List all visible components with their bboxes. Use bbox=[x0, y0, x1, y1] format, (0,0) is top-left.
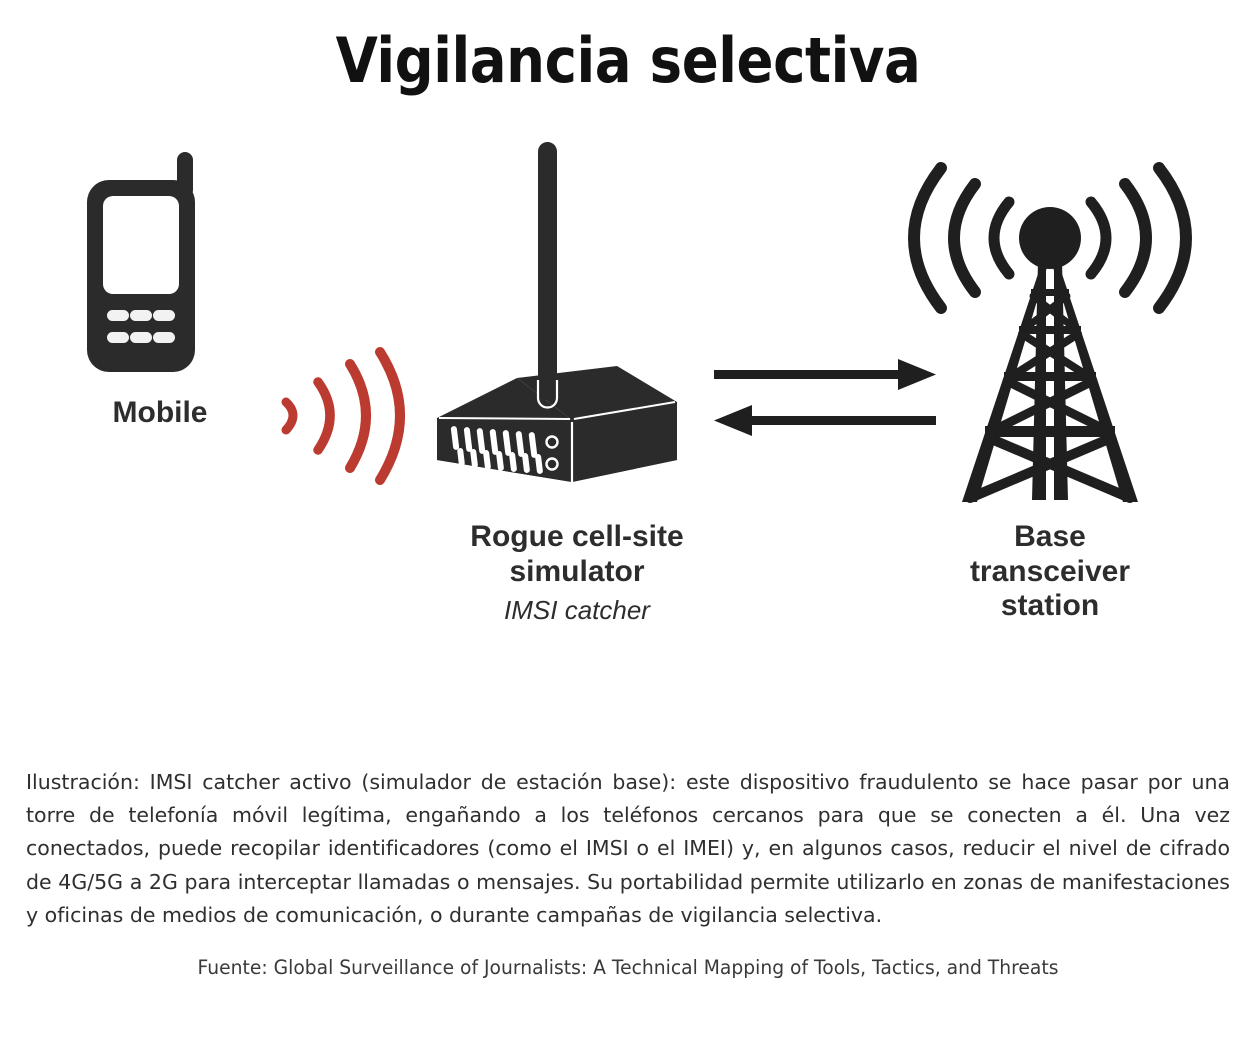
diagram-node-mobile: Mobile bbox=[60, 140, 260, 430]
page-title: Vigilancia selectiva bbox=[75, 28, 1180, 93]
radio-waves-icon bbox=[268, 330, 418, 500]
cell-tower-icon bbox=[905, 150, 1195, 520]
caption-block: Ilustración: IMSI catcher activo (simula… bbox=[26, 766, 1230, 981]
diagram-node-bts-label: Base transceiver station bbox=[905, 520, 1195, 624]
diagram-node-simulator-label-line1: Rogue cell-site bbox=[412, 520, 742, 555]
diagram-node-bts-label-line3: station bbox=[905, 589, 1195, 624]
mobile-phone-icon bbox=[60, 140, 260, 390]
source-attribution: Fuente: Global Surveillance of Journalis… bbox=[50, 954, 1206, 981]
diagram-node-simulator-label-line2: simulator bbox=[412, 555, 742, 590]
diagram-canvas: Mobile bbox=[0, 130, 1256, 660]
diagram-node-mobile-label: Mobile bbox=[60, 396, 260, 430]
arrow-left-icon bbox=[714, 405, 936, 436]
radio-waves-connector bbox=[268, 330, 418, 505]
mobile-phone-art bbox=[60, 140, 260, 390]
caption-paragraph: Ilustración: IMSI catcher activo (simula… bbox=[26, 766, 1230, 932]
router-antenna-icon bbox=[412, 130, 742, 520]
diagram-node-bts-label-line1: Base bbox=[905, 520, 1195, 555]
cell-tower-art bbox=[905, 150, 1195, 520]
router-art bbox=[412, 130, 742, 520]
diagram-node-base-transceiver-station: Base transceiver station bbox=[905, 150, 1195, 624]
diagram-node-simulator-label: Rogue cell-site simulator bbox=[412, 520, 742, 589]
diagram-node-rogue-cell-site-simulator: Rogue cell-site simulator IMSI catcher bbox=[412, 130, 742, 626]
diagram-node-simulator-sublabel: IMSI catcher bbox=[412, 595, 742, 626]
diagram-node-bts-label-line2: transceiver bbox=[905, 555, 1195, 590]
arrow-right-icon bbox=[714, 359, 936, 390]
